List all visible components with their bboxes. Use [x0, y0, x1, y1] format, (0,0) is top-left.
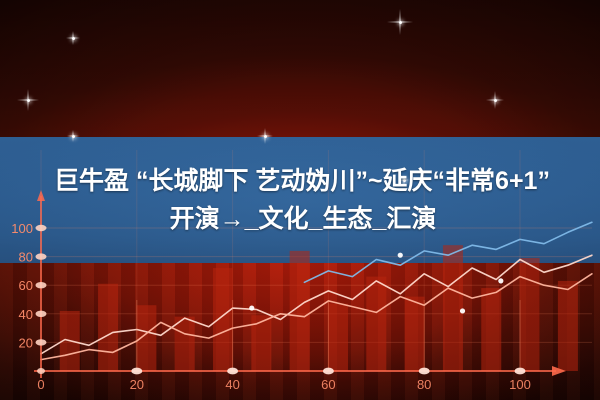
y-tick-label: 40 [19, 307, 33, 322]
chart-bar [405, 297, 425, 371]
chart-bar [366, 277, 386, 371]
chart-line-series-1 [41, 255, 592, 354]
x-tick-dot [515, 368, 526, 375]
x-tick-dot [419, 368, 430, 375]
chart-bar [98, 284, 118, 371]
chart-bar [520, 258, 540, 371]
x-tick-label: 100 [509, 377, 531, 392]
chart-marker [249, 305, 254, 310]
y-tick-dot [36, 339, 47, 345]
chart-bar [175, 317, 195, 371]
x-tick-dot [37, 368, 45, 374]
x-tick-dot [323, 368, 334, 375]
chart-bar [443, 245, 463, 371]
title-line-1: 巨牛盈 “长城脚下 艺动妫川”~延庆“非常6+1” [50, 162, 550, 200]
banner-image: 20406080100020406080100 巨牛盈 “长城脚下 艺动妫川”~… [0, 0, 600, 400]
x-tick-label: 40 [225, 377, 239, 392]
y-tick-dot [36, 311, 47, 317]
y-tick-label: 20 [19, 335, 33, 350]
x-tick-label: 80 [417, 377, 431, 392]
chart-line-series-2 [41, 274, 592, 360]
chart-marker [460, 308, 465, 313]
x-tick-label: 20 [130, 377, 144, 392]
chart-bar [328, 304, 348, 371]
title-line-2: 开演→_文化_生态_汇演 [164, 200, 437, 238]
y-tick-label: 60 [19, 278, 33, 293]
x-tick-dot [227, 368, 238, 375]
x-tick-label: 0 [37, 377, 44, 392]
chart-bar [213, 268, 233, 371]
x-tick-dot [131, 368, 142, 375]
y-tick-dot [36, 282, 47, 288]
chart-bar [481, 288, 501, 371]
title-block: 巨牛盈 “长城脚下 艺动妫川”~延庆“非常6+1” 开演→_文化_生态_汇演 [0, 137, 600, 263]
chart-bar [558, 281, 578, 371]
x-tick-label: 60 [321, 377, 335, 392]
chart-marker [498, 278, 503, 283]
